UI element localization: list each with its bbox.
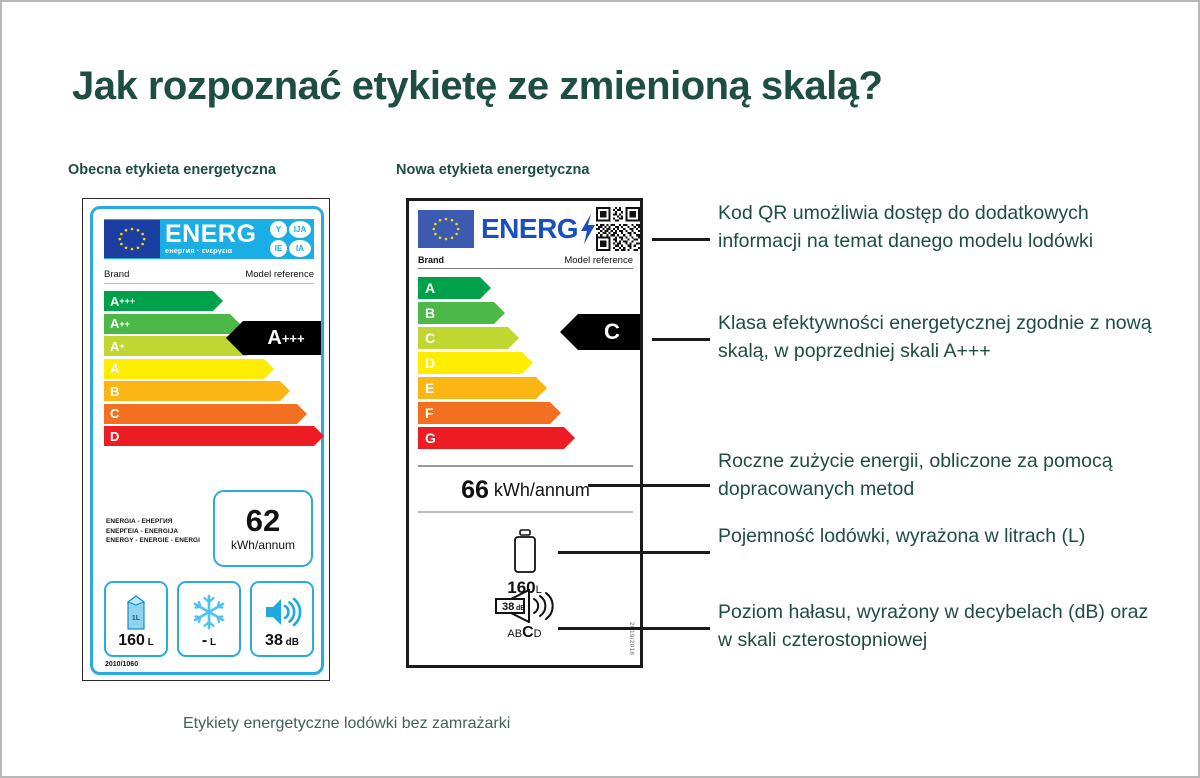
svg-text:1L: 1L <box>132 615 141 622</box>
new-scale-arrow-D: D <box>418 352 522 374</box>
new-noise-value: 38 <box>502 601 514 613</box>
old-scale-grade-sup: +++ <box>119 296 135 306</box>
new-scale-grade-label: D <box>425 355 435 371</box>
old-language-line: ENERGY - ENERGIE - ENERGI <box>106 536 200 546</box>
new-scale-arrow-E: E <box>418 377 536 399</box>
old-scale-grade-label: D <box>110 429 119 444</box>
old-language-line: ENERGIA - ЕНЕРГИЯ <box>106 517 200 527</box>
infographic-canvas: Jak rozpoznać etykietę ze zmienioną skal… <box>0 0 1200 778</box>
speaker-icon <box>252 589 312 635</box>
noise-class-before: AB <box>507 628 522 640</box>
old-scale-row: A <box>104 359 314 379</box>
old-box-unit: dB <box>283 637 299 648</box>
badge-ie: IE <box>270 240 287 257</box>
new-brand: Brand <box>418 255 444 266</box>
old-scale-arrow-C: C <box>104 404 297 424</box>
callout-line-consumption <box>588 484 710 487</box>
new-consumption-row: 66 kWh/annum <box>418 473 633 507</box>
callout-line-volume <box>558 551 710 554</box>
new-scale-grade-label: F <box>425 405 434 421</box>
new-volume-section: 160L <box>409 527 640 598</box>
old-scale-arrow-A+++: A+++ <box>104 291 213 311</box>
old-label-heading: Obecna etykieta energetyczna <box>68 162 276 178</box>
old-volume-box: 1L 160 L <box>104 581 168 657</box>
old-scale-grade-label: C <box>110 406 119 421</box>
qr-code-icon <box>596 207 640 251</box>
old-label-header: ENERG енергия · ενεργεια Y IJA IE IA <box>104 219 314 259</box>
callout-line-class <box>652 338 710 341</box>
old-selected-grade-letter: A <box>267 327 281 350</box>
divider <box>418 511 633 513</box>
old-scale-row: C <box>104 404 314 424</box>
new-scale-grade-label: A <box>425 280 435 296</box>
new-consumption-value: 66 <box>461 476 489 505</box>
old-freezer-box: - L <box>177 581 241 657</box>
old-energ-wordmark: ENERG енергия · ενεργεια <box>160 224 270 254</box>
noise-class-selected: C <box>522 624 534 641</box>
old-consumption-box: 62 kWh/annum <box>213 490 313 567</box>
new-scale-arrow-F: F <box>418 402 550 424</box>
eu-flag-icon <box>104 220 160 258</box>
new-efficiency-scale: ABCDEFG <box>418 277 633 452</box>
snowflake-icon <box>179 589 239 635</box>
new-selected-grade-arrow: C <box>578 314 640 350</box>
milk-carton-icon: 1L <box>106 589 166 635</box>
old-scale-arrow-A++: A++ <box>104 314 230 334</box>
page-title: Jak rozpoznać etykietę ze zmienioną skal… <box>72 64 882 109</box>
noise-class-after: D <box>534 628 542 640</box>
annotation-qr: Kod QR umożliwia dostęp do dodatkowych i… <box>718 200 1160 255</box>
new-energy-label: ENERG <box>406 198 643 668</box>
new-scale-arrow-B: B <box>418 302 494 324</box>
old-freezer-value: - L <box>179 632 239 650</box>
old-energ-text: ENERG <box>165 222 270 247</box>
annotation-consumption: Roczne zużycie energii, obliczone za pom… <box>718 448 1160 503</box>
lightning-bolt-icon <box>580 214 596 244</box>
old-scale-row: D <box>104 426 314 446</box>
new-brand-row: Brand Model reference <box>418 255 633 269</box>
old-box-unit: L <box>145 637 154 648</box>
new-scale-grade-label: G <box>425 430 436 446</box>
old-brand: Brand <box>104 269 129 280</box>
new-noise-section: 38 dB ABCD <box>409 589 640 642</box>
old-scale-arrow-B: B <box>104 381 280 401</box>
new-scale-row: A <box>418 277 633 299</box>
old-regulation-number: 2010/1060 <box>105 661 138 668</box>
new-label-header: ENERG <box>418 208 633 250</box>
old-scale-grade-label: A <box>110 316 119 331</box>
old-scale-grade-label: A <box>110 361 119 376</box>
old-noise-value: 38 dB <box>252 632 312 650</box>
old-consumption-value: 62 <box>246 505 280 536</box>
old-scale-grade-label: B <box>110 384 119 399</box>
new-scale-row: D <box>418 352 633 374</box>
old-language-line: ΕΝΕΡΓΕΙΑ - ENERGIJA <box>106 527 200 537</box>
old-selected-grade-arrow: A+++ <box>243 321 321 355</box>
new-scale-arrow-G: G <box>418 427 564 449</box>
old-consumption-unit: kWh/annum <box>231 538 295 552</box>
old-box-number: 160 <box>118 632 145 649</box>
new-scale-arrow-C: C <box>418 327 508 349</box>
old-model-reference: Model reference <box>245 269 314 280</box>
new-scale-grade-label: B <box>425 305 435 321</box>
new-scale-grade-label: C <box>425 330 435 346</box>
old-language-list: ENERGIA - ЕНЕРГИЯΕΝΕΡΓΕΙΑ - ENERGIJAENER… <box>106 517 200 546</box>
new-noise-class-scale: ABCD <box>507 624 541 642</box>
old-label-inner-frame: ENERG енергия · ενεργεια Y IJA IE IA Bra… <box>90 206 324 675</box>
callout-line-qr <box>652 238 710 241</box>
old-scale-row: A+++ <box>104 291 314 311</box>
divider <box>418 465 633 467</box>
new-scale-row: E <box>418 377 633 399</box>
speaker-icon: 38 dB <box>489 589 561 623</box>
callout-line-noise <box>558 627 710 630</box>
old-selected-grade-plus: +++ <box>282 331 305 346</box>
old-box-unit: L <box>207 637 216 648</box>
annotation-volume: Pojemność lodówki, wyrażona w litrach (L… <box>718 523 1160 551</box>
new-scale-row: G <box>418 427 633 449</box>
old-efficiency-scale: A+++A++A+ABCD <box>104 291 314 449</box>
old-scale-grade-sup: + <box>119 341 124 351</box>
old-noise-box: 38 dB <box>250 581 314 657</box>
old-energ-subtext: енергия · ενεργεια <box>165 247 270 254</box>
new-energ-text: ENERG <box>481 213 578 245</box>
old-brand-row: Brand Model reference <box>104 269 314 284</box>
old-language-badges: Y IJA IE IA <box>270 221 311 257</box>
eu-flag-icon <box>418 210 474 248</box>
old-scale-grade-label: A <box>110 294 119 309</box>
old-scale-arrow-D: D <box>104 426 314 446</box>
badge-ija: IJA <box>289 221 311 238</box>
old-volume-value: 160 L <box>106 632 166 650</box>
new-scale-grade-label: E <box>425 380 434 396</box>
old-scale-row: B <box>104 381 314 401</box>
new-consumption-unit: kWh/annum <box>494 480 590 501</box>
new-scale-arrow-A: A <box>418 277 480 299</box>
bottle-icon <box>510 527 540 575</box>
new-noise-unit: dB <box>516 605 525 612</box>
annotation-efficiency-class: Klasa efektywności energetycznej zgodnie… <box>718 310 1160 365</box>
old-scale-grade-label: A <box>110 339 119 354</box>
annotation-noise: Poziom hałasu, wyrażony w decybelach (dB… <box>718 599 1160 654</box>
old-scale-arrow-A: A <box>104 359 264 379</box>
new-model-reference: Model reference <box>564 255 633 266</box>
old-scale-grade-sup: ++ <box>119 319 130 329</box>
new-scale-row: F <box>418 402 633 424</box>
old-energy-label: ENERG енергия · ενεργεια Y IJA IE IA Bra… <box>82 198 330 681</box>
figure-caption: Etykiety energetyczne lodówki bez zamraż… <box>183 715 510 733</box>
old-box-number: 38 <box>265 632 283 649</box>
new-label-heading: Nowa etykieta energetyczna <box>396 162 589 178</box>
badge-y: Y <box>270 221 287 238</box>
new-energ-wordmark: ENERG <box>474 213 596 245</box>
badge-ia: IA <box>289 240 311 257</box>
